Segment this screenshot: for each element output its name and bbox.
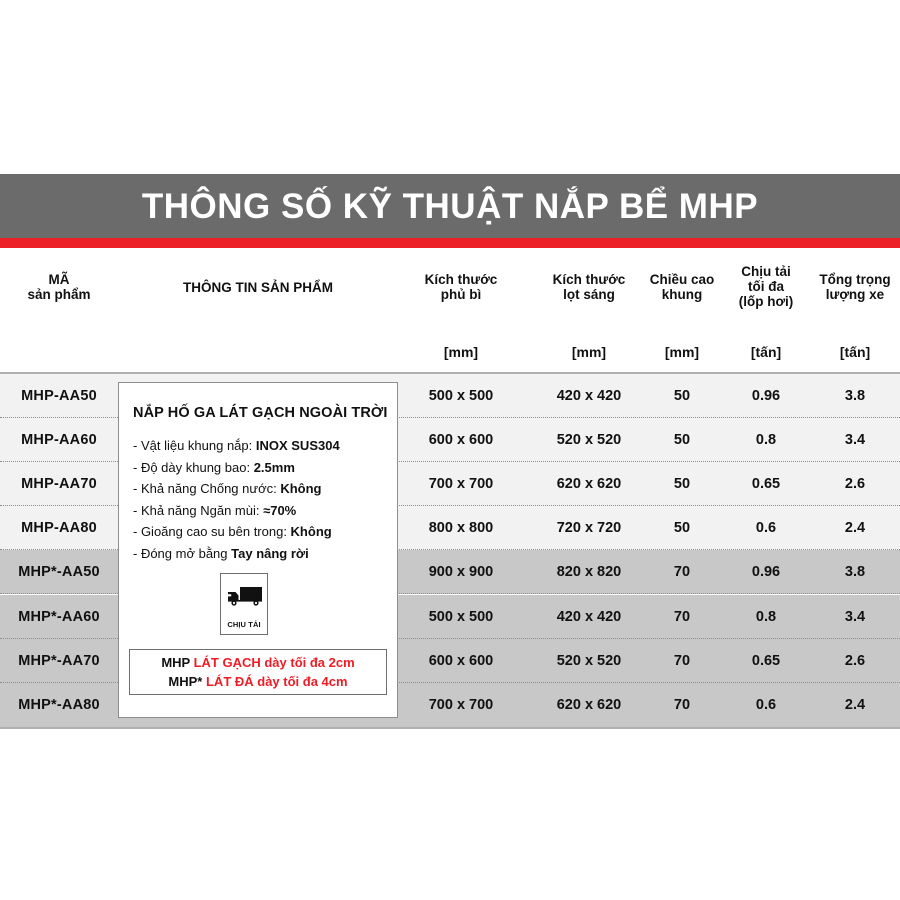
cell-overall-size: 500 x 500 — [398, 595, 524, 639]
unit-overall-size: [mm] — [398, 344, 524, 360]
info-spec-value: Tay nâng rời — [231, 546, 309, 561]
cell-max-load: 0.6 — [722, 683, 810, 727]
table-header: MÃ sản phẩm THÔNG TIN SẢN PHẨM Kích thướ… — [0, 248, 900, 336]
info-spec-item: - Đóng mở bằng Tay nâng rời — [133, 543, 389, 565]
load-capacity-caption: CHỊU TẢI — [221, 620, 267, 629]
cell-overall-size: 700 x 700 — [398, 683, 524, 727]
note-2-highlight: LÁT ĐÁ dày tối đa 4cm — [206, 674, 348, 689]
title-accent-rule — [0, 238, 900, 248]
cell-product-code: MHP*-AA50 — [0, 550, 118, 594]
table-bottom-rule — [0, 727, 900, 729]
cell-overall-size: 700 x 700 — [398, 462, 524, 506]
column-header-clear-size: Kích thước lọt sáng — [526, 272, 652, 302]
thickness-note-box: MHP LÁT GẠCH dày tối đa 2cm MHP* LÁT ĐÁ … — [129, 649, 387, 695]
column-header-info: THÔNG TIN SẢN PHẨM — [118, 280, 398, 295]
column-header-max-load: Chịu tải tối đa (lốp hơi) — [722, 264, 810, 309]
info-spec-value: ≈70% — [263, 503, 296, 518]
cell-frame-height: 70 — [638, 550, 726, 594]
info-spec-item: - Khả năng Ngăn mùi: ≈70% — [133, 500, 389, 522]
info-spec-item: - Vật liệu khung nắp: INOX SUS304 — [133, 435, 389, 457]
cell-product-code: MHP-AA70 — [0, 462, 118, 506]
cell-clear-size: 420 x 420 — [526, 374, 652, 418]
cell-product-code: MHP-AA80 — [0, 506, 118, 550]
cell-overall-size: 600 x 600 — [398, 639, 524, 683]
info-spec-value: 2.5mm — [254, 460, 295, 475]
cell-frame-height: 50 — [638, 462, 726, 506]
product-info-card: NẮP HỐ GA LÁT GẠCH NGOÀI TRỜI - Vật liệu… — [118, 382, 398, 718]
cell-total-weight: 3.8 — [810, 550, 900, 594]
column-header-total-weight: Tổng trọng lượng xe — [810, 272, 900, 302]
info-spec-value: Không — [291, 524, 332, 539]
info-spec-label: - Khả năng Ngăn mùi: — [133, 503, 263, 518]
truck-icon — [226, 583, 264, 611]
info-spec-value: INOX SUS304 — [256, 438, 340, 453]
cell-overall-size: 800 x 800 — [398, 506, 524, 550]
cell-max-load: 0.8 — [722, 418, 810, 462]
cell-clear-size: 420 x 420 — [526, 595, 652, 639]
unit-max-load: [tấn] — [722, 344, 810, 360]
cell-max-load: 0.8 — [722, 595, 810, 639]
cell-max-load: 0.65 — [722, 639, 810, 683]
cell-frame-height: 70 — [638, 639, 726, 683]
cell-clear-size: 720 x 720 — [526, 506, 652, 550]
cell-total-weight: 2.6 — [810, 462, 900, 506]
info-spec-item: - Độ dày khung bao: 2.5mm — [133, 457, 389, 479]
info-spec-value: Không — [280, 481, 321, 496]
cell-frame-height: 50 — [638, 374, 726, 418]
cell-clear-size: 520 x 520 — [526, 418, 652, 462]
cell-overall-size: 900 x 900 — [398, 550, 524, 594]
unit-total-weight: [tấn] — [810, 344, 900, 360]
note-2-prefix: MHP* — [168, 674, 206, 689]
cell-max-load: 0.65 — [722, 462, 810, 506]
column-header-frame-height: Chiều cao khung — [638, 272, 726, 302]
info-spec-label: - Đóng mở bằng — [133, 546, 231, 561]
cell-max-load: 0.96 — [722, 550, 810, 594]
cell-frame-height: 70 — [638, 595, 726, 639]
cell-clear-size: 620 x 620 — [526, 462, 652, 506]
note-1-prefix: MHP — [161, 655, 193, 670]
unit-row: [mm] [mm] [mm] [tấn] [tấn] — [0, 336, 900, 372]
info-spec-label: - Khả năng Chống nước: — [133, 481, 280, 496]
cell-total-weight: 2.6 — [810, 639, 900, 683]
note-1-highlight: LÁT GẠCH dày tối đa 2cm — [194, 655, 355, 670]
page-title: THÔNG SỐ KỸ THUẬT NẮP BỂ MHP — [142, 189, 758, 224]
cell-clear-size: 520 x 520 — [526, 639, 652, 683]
info-spec-label: - Vật liệu khung nắp: — [133, 438, 256, 453]
cell-product-code: MHP-AA60 — [0, 418, 118, 462]
cell-total-weight: 3.8 — [810, 374, 900, 418]
cell-frame-height: 70 — [638, 683, 726, 727]
cell-frame-height: 50 — [638, 418, 726, 462]
cell-clear-size: 820 x 820 — [526, 550, 652, 594]
title-band: THÔNG SỐ KỸ THUẬT NẮP BỂ MHP — [0, 174, 900, 238]
cell-product-code: MHP*-AA80 — [0, 683, 118, 727]
unit-frame-height: [mm] — [638, 344, 726, 360]
cell-overall-size: 600 x 600 — [398, 418, 524, 462]
info-card-title: NẮP HỐ GA LÁT GẠCH NGOÀI TRỜI — [133, 405, 388, 421]
info-spec-label: - Gioăng cao su bên trong: — [133, 524, 291, 539]
thickness-note-line-1: MHP LÁT GẠCH dày tối đa 2cm — [161, 653, 354, 672]
cell-overall-size: 500 x 500 — [398, 374, 524, 418]
column-header-overall-size: Kích thước phủ bì — [398, 272, 524, 302]
cell-total-weight: 2.4 — [810, 683, 900, 727]
cell-total-weight: 3.4 — [810, 418, 900, 462]
cell-frame-height: 50 — [638, 506, 726, 550]
info-spec-list: - Vật liệu khung nắp: INOX SUS304- Độ dà… — [133, 435, 389, 564]
column-header-code: MÃ sản phẩm — [0, 272, 118, 302]
info-spec-item: - Khả năng Chống nước: Không — [133, 478, 389, 500]
thickness-note-line-2: MHP* LÁT ĐÁ dày tối đa 4cm — [168, 672, 347, 691]
cell-product-code: MHP*-AA60 — [0, 595, 118, 639]
cell-clear-size: 620 x 620 — [526, 683, 652, 727]
cell-product-code: MHP*-AA70 — [0, 639, 118, 683]
cell-max-load: 0.6 — [722, 506, 810, 550]
info-spec-item: - Gioăng cao su bên trong: Không — [133, 521, 389, 543]
cell-product-code: MHP-AA50 — [0, 374, 118, 418]
load-capacity-badge: CHỊU TẢI — [220, 573, 268, 635]
info-spec-label: - Độ dày khung bao: — [133, 460, 254, 475]
cell-total-weight: 3.4 — [810, 595, 900, 639]
spec-sheet: THÔNG SỐ KỸ THUẬT NẮP BỂ MHP MÃ sản phẩm… — [0, 0, 900, 900]
unit-clear-size: [mm] — [526, 344, 652, 360]
cell-total-weight: 2.4 — [810, 506, 900, 550]
cell-max-load: 0.96 — [722, 374, 810, 418]
